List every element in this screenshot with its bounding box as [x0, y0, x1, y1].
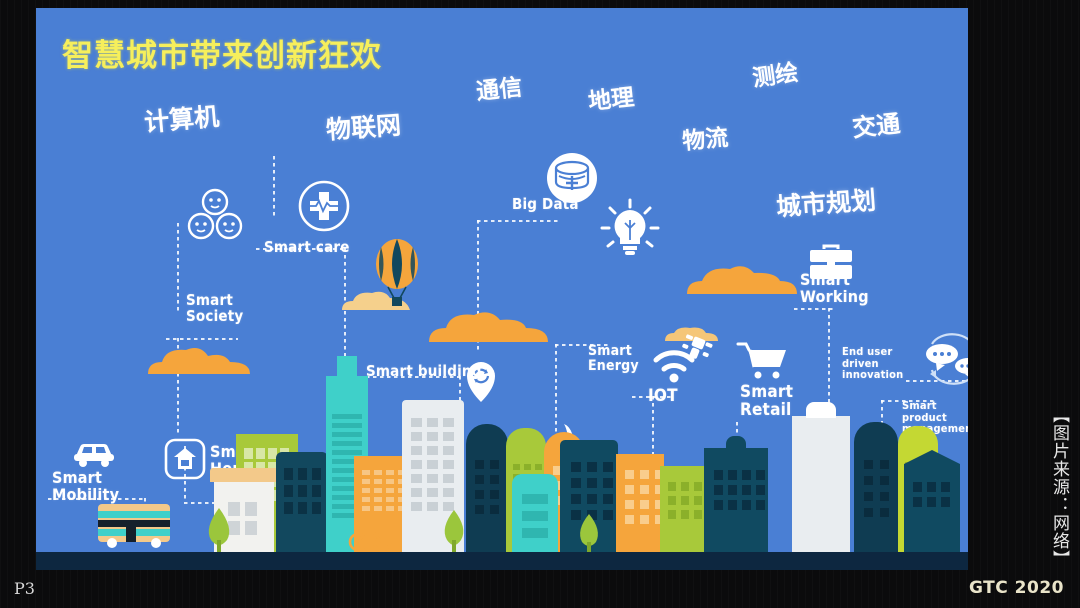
building-darknavy-2 — [854, 422, 898, 552]
tree-2 — [440, 508, 468, 552]
building-darkteal-2 — [704, 448, 768, 552]
label-surveying: 测绘 — [750, 53, 800, 93]
chat-bubbles-icon — [920, 334, 968, 386]
wifi-satellite-icon — [650, 330, 720, 388]
cloud-center — [426, 310, 551, 344]
label-communication: 通信 — [474, 68, 523, 107]
building-olive-3 — [660, 466, 706, 552]
car-icon — [72, 440, 116, 468]
page-number: P3 — [14, 579, 35, 598]
building-turquoise-2 — [512, 474, 558, 552]
building-darknavy-1 — [466, 424, 508, 552]
connector-bigdata-bot — [477, 220, 561, 222]
ground-strip — [36, 552, 968, 570]
label-smart-society: Smart Society — [186, 293, 243, 325]
label-smart-energy: Smart Energy — [588, 344, 639, 373]
building-darkteal-1 — [276, 452, 328, 552]
label-big-data: Big Data — [512, 197, 579, 213]
cloud-left — [144, 346, 254, 376]
source-note: 【图片来源：网络】 — [1042, 406, 1068, 568]
building-darkteal-3 — [904, 464, 960, 552]
cloud-shape — [684, 264, 800, 296]
tree-3 — [576, 512, 602, 552]
home-icon — [164, 438, 206, 480]
slide-canvas: 智慧城市带来创新狂欢 计算机 物联网 通信 地理 测绘 物流 交通 城市规划 — [36, 8, 968, 570]
connector-working-top — [794, 308, 836, 310]
connector-smart-society — [177, 223, 179, 313]
bus-icon — [96, 502, 174, 550]
label-smart-care: Smart care — [264, 240, 350, 256]
slide-frame: P3 GTC 2020 【图片来源：网络】 智慧城市带来创新狂欢 计算机 物联网… — [0, 0, 1080, 608]
label-end-user-innovation: End user driven innovation — [842, 346, 903, 381]
hot-air-balloon-icon — [374, 238, 420, 310]
label-logistics: 物流 — [681, 118, 730, 156]
label-transport: 交通 — [850, 104, 901, 144]
label-smart-working: Smart Working — [800, 272, 869, 306]
label-geography: 地理 — [586, 78, 635, 117]
balloon-shape — [374, 238, 420, 310]
label-iot-cn: 物联网 — [325, 105, 402, 146]
building-white-tower — [792, 416, 850, 552]
shopping-cart-icon — [736, 340, 788, 382]
label-smart-retail: Smart Retail — [740, 384, 793, 420]
label-computer: 计算机 — [143, 97, 221, 139]
tree-1 — [204, 506, 234, 552]
label-smart-building: Smart building — [366, 364, 482, 380]
label-smart-mobility: Smart Mobility — [52, 470, 119, 504]
label-urban-planning: 城市规划 — [775, 181, 877, 224]
cloud-right — [684, 264, 800, 296]
lightbulb-icon — [598, 198, 662, 264]
people-group-icon — [184, 188, 246, 246]
cloud-shape — [426, 310, 551, 344]
medical-cross-icon — [298, 180, 350, 232]
page-title: 智慧城市带来创新狂欢 — [62, 30, 382, 75]
label-iot: IOT — [648, 388, 678, 406]
building-orange-2 — [616, 454, 664, 552]
cloud-shape — [144, 346, 254, 376]
footer-brand: GTC 2020 — [969, 578, 1064, 598]
bicycle-icon — [348, 526, 392, 552]
connector-smart-care-top — [273, 156, 275, 218]
